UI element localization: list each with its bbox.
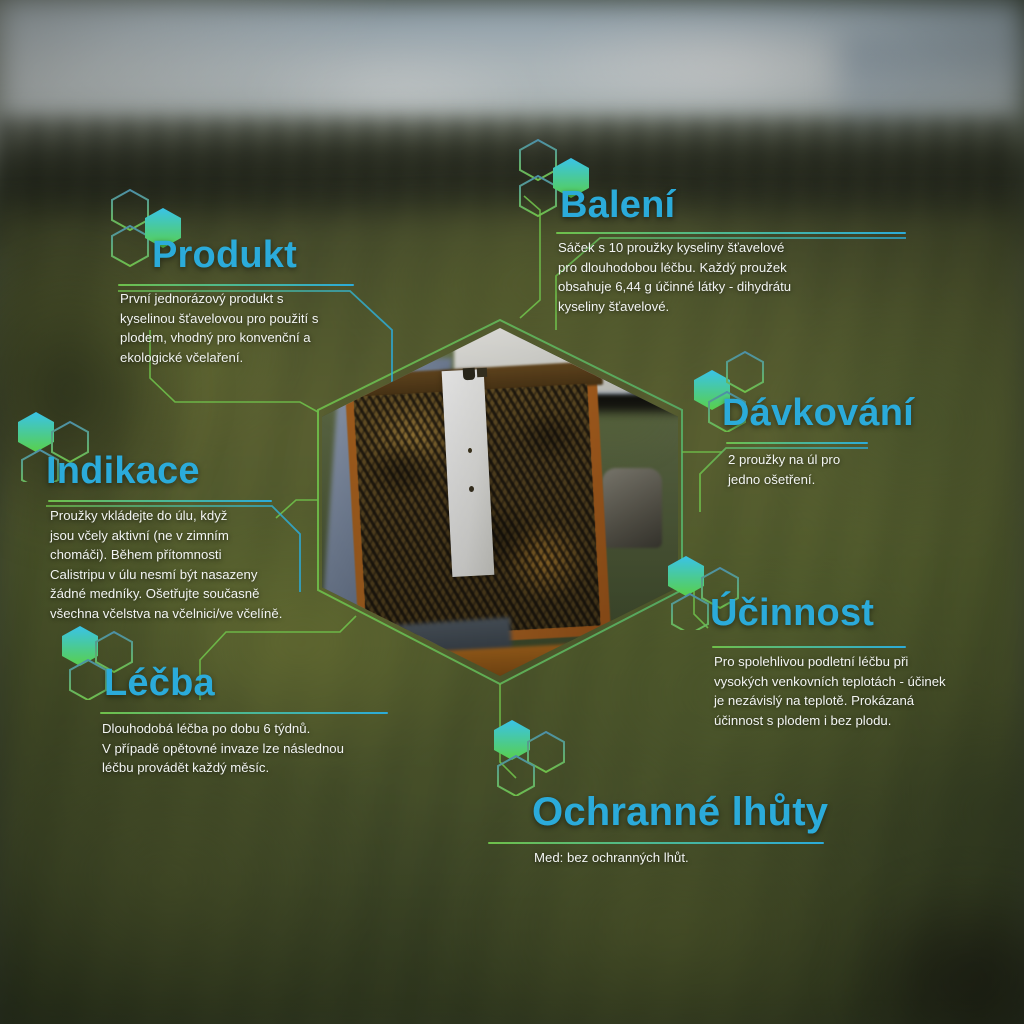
- section-title-indikace: Indikace: [46, 450, 200, 493]
- section-body-ucinnost: Pro spolehlivou podletní léčbu při vysok…: [714, 652, 1014, 730]
- section-body-lecba: Dlouhodobá léčba po dobu 6 týdnů. V příp…: [102, 719, 422, 778]
- section-title-ucinnost: Účinnost: [710, 592, 874, 635]
- section-rule-ochranne-lhuty: [488, 842, 824, 844]
- section-title-ochranne-lhuty: Ochranné lhůty: [532, 790, 828, 835]
- section-rule-ucinnost: [712, 646, 906, 648]
- section-title-produkt: Produkt: [152, 234, 297, 277]
- section-body-indikace: Proužky vkládejte do úlu, když jsou včel…: [50, 506, 350, 623]
- hexagon-cluster-icon: [490, 712, 580, 796]
- section-rule-davkovani: [726, 442, 868, 444]
- section-title-baleni: Balení: [560, 184, 675, 227]
- section-body-ochranne-lhuty: Med: bez ochranných lhůt.: [534, 848, 854, 868]
- section-rule-baleni: [556, 232, 906, 234]
- section-body-davkovani: 2 proužky na úl pro jedno ošetření.: [728, 450, 958, 489]
- section-rule-lecba: [100, 712, 388, 714]
- infographic-canvas: Produkt První jednorázový produkt s kyse…: [0, 0, 1024, 1024]
- section-rule-indikace: [48, 500, 272, 502]
- connector-lecba: [200, 616, 356, 700]
- section-title-lecba: Léčba: [104, 662, 215, 705]
- section-body-produkt: První jednorázový produkt s kyselinou šť…: [120, 289, 382, 367]
- section-title-davkovani: Dávkování: [722, 392, 914, 435]
- section-body-baleni: Sáček s 10 proužky kyseliny šťavelové pr…: [558, 238, 888, 316]
- section-rule-produkt: [118, 284, 354, 286]
